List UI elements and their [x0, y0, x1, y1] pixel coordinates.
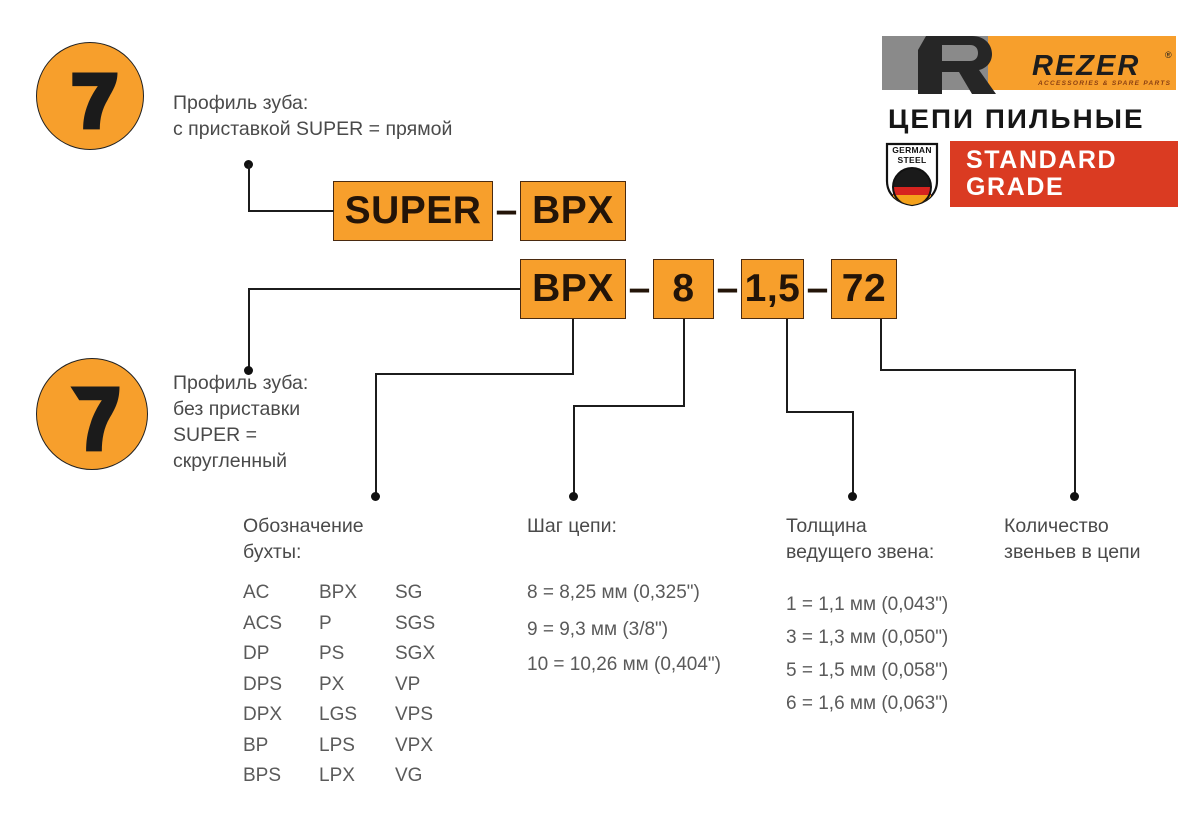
coil-code: DPS	[243, 670, 282, 701]
connector-v-coil-b	[375, 373, 377, 495]
connector-v-top-note	[248, 164, 250, 212]
german-steel-line2: STEEL	[884, 155, 940, 165]
grade-line1: STANDARD	[966, 147, 1178, 174]
infographic-canvas: REZER ® ACCESSORIES & SPARE PARTS ЦЕПИ П…	[0, 0, 1200, 823]
coil-code: SGX	[395, 639, 435, 670]
connector-v-pitch-b	[573, 405, 575, 495]
connector-h-links	[880, 369, 1076, 371]
coil-col-2: BPX P PS PX LGS LPS LPX	[319, 578, 357, 792]
connector-v-gauge-b	[852, 411, 854, 495]
coil-code: BPX	[319, 578, 357, 609]
coil-code: SG	[395, 578, 435, 609]
connector-v-links-a	[880, 319, 882, 371]
code-box-bpx-row2[interactable]: BPX	[520, 259, 626, 319]
coil-code: PX	[319, 670, 357, 701]
code-box-bpx-row1[interactable]: BPX	[520, 181, 626, 241]
code-separator-2: –	[626, 259, 653, 319]
coil-code: P	[319, 609, 357, 640]
pitch-line: 9 = 9,3 мм (3/8")	[527, 615, 668, 646]
column-title-pitch: Шаг цепи:	[527, 513, 767, 539]
coil-code: SGS	[395, 609, 435, 640]
chain-title: ЦЕПИ ПИЛЬНЫЕ	[888, 104, 1145, 135]
pitch-line: 10 = 10,26 мм (0,404")	[527, 650, 721, 681]
gauge-line: 3 = 1,3 мм (0,050")	[786, 623, 948, 654]
code-box-pitch[interactable]: 8	[653, 259, 714, 319]
connector-v-bottom-note	[248, 288, 250, 370]
code-box-links[interactable]: 72	[831, 259, 897, 319]
coil-code: AC	[243, 578, 282, 609]
rezer-wordmark: REZER ®	[1032, 50, 1182, 80]
connector-v-coil-a	[572, 319, 574, 375]
coil-col-3: SG SGS SGX VP VPS VPX VG	[395, 578, 435, 792]
coil-code: BP	[243, 731, 282, 762]
rezer-wordmark-text: REZER	[1032, 50, 1140, 83]
coil-code: DP	[243, 639, 282, 670]
gauge-line: 5 = 1,5 мм (0,058")	[786, 656, 948, 687]
german-steel-line1: GERMAN	[884, 145, 940, 155]
connector-dot-gauge	[848, 492, 857, 501]
code-separator-3: –	[714, 259, 741, 319]
coil-code: LPX	[319, 761, 357, 792]
straight-tooth-icon	[37, 43, 143, 149]
connector-h-pitch	[573, 405, 685, 407]
connector-h-coil	[375, 373, 574, 375]
column-title-links: Количество звеньев в цепи	[1004, 513, 1194, 565]
tooth-profile-marker-top	[36, 42, 144, 150]
connector-v-gauge-a	[786, 319, 788, 413]
german-steel-label: GERMAN STEEL	[884, 145, 940, 165]
coil-code: ACS	[243, 609, 282, 640]
german-steel-badge: GERMAN STEEL	[884, 141, 940, 207]
coil-code: LPS	[319, 731, 357, 762]
standard-grade-box: STANDARD GRADE	[950, 141, 1178, 207]
code-box-gauge[interactable]: 1,5	[741, 259, 804, 319]
pitch-line: 8 = 8,25 мм (0,325")	[527, 578, 700, 609]
code-separator-4: –	[804, 259, 831, 319]
connector-dot-links	[1070, 492, 1079, 501]
code-box-super[interactable]: SUPER	[333, 181, 493, 241]
coil-code: VP	[395, 670, 435, 701]
coil-col-1: AC ACS DP DPS DPX BP BPS	[243, 578, 282, 792]
grade-line2: GRADE	[966, 174, 1178, 201]
coil-code: VPX	[395, 731, 435, 762]
connector-dot-coil	[371, 492, 380, 501]
column-title-coil: Обозначение бухты:	[243, 513, 473, 565]
coil-code: VPS	[395, 700, 435, 731]
connector-h-bottom-note	[248, 288, 520, 290]
connector-v-links-b	[1074, 369, 1076, 495]
coil-code: VG	[395, 761, 435, 792]
connector-v-pitch-a	[683, 319, 685, 407]
note-top: Профиль зуба: с приставкой SUPER = прямо…	[173, 90, 533, 142]
gauge-line: 1 = 1,1 мм (0,043")	[786, 590, 948, 621]
coil-code: LGS	[319, 700, 357, 731]
rounded-tooth-icon	[37, 359, 147, 469]
gauge-line: 6 = 1,6 мм (0,063")	[786, 689, 948, 720]
code-separator-1: –	[493, 181, 520, 241]
coil-code: PS	[319, 639, 357, 670]
rezer-logo-block: REZER ® ACCESSORIES & SPARE PARTS ЦЕПИ П…	[880, 28, 1180, 208]
tooth-profile-marker-bottom	[36, 358, 148, 470]
column-title-gauge: Толщина ведущего звена:	[786, 513, 1001, 565]
connector-dot-pitch	[569, 492, 578, 501]
rezer-tagline: ACCESSORIES & SPARE PARTS	[1038, 80, 1171, 87]
registered-mark: ®	[1165, 50, 1172, 60]
note-bottom: Профиль зуба: без приставки SUPER = скру…	[173, 370, 353, 474]
connector-h-top-note	[248, 210, 334, 212]
coil-code: DPX	[243, 700, 282, 731]
connector-h-gauge	[786, 411, 854, 413]
coil-code: BPS	[243, 761, 282, 792]
